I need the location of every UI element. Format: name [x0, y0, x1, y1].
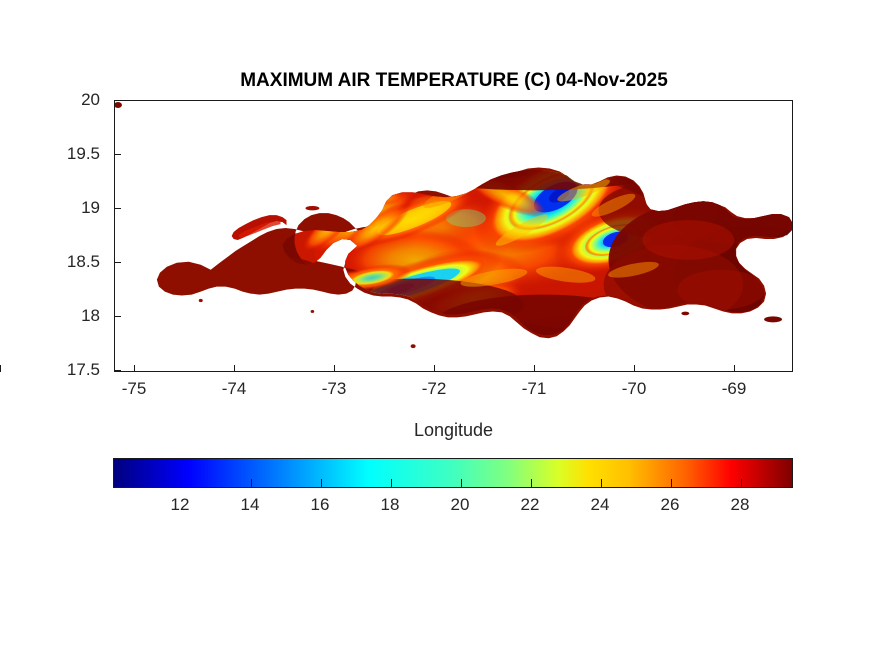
colorbar-label-28: 28 — [705, 496, 775, 513]
colorbar-tick-18 — [391, 479, 392, 487]
xtick-label--74: -74 — [199, 380, 269, 397]
xtick-label--70: -70 — [599, 380, 669, 397]
colorbar-tick-20 — [461, 479, 462, 487]
colorbar-tick-28 — [741, 479, 742, 487]
ytick-label-18.5: 18.5 — [40, 253, 100, 270]
ytick-mark-20 — [114, 100, 121, 101]
map-axes[interactable] — [114, 100, 793, 372]
xtick-label--73: -73 — [299, 380, 369, 397]
colorbar[interactable] — [113, 458, 793, 488]
colorbar-tick-12 — [181, 479, 182, 487]
xtick-label--75: -75 — [99, 380, 169, 397]
colorbar-label-18: 18 — [355, 496, 425, 513]
ytick-mark-18 — [114, 316, 121, 317]
xtick-mark--73 — [334, 365, 335, 372]
xtick-mark--70 — [634, 365, 635, 372]
islet-small-1 — [199, 299, 203, 302]
colorbar-tick-14 — [251, 479, 252, 487]
ytick-mark-19 — [114, 208, 121, 209]
colorbar-label-26: 26 — [635, 496, 705, 513]
islet-saona — [764, 316, 782, 322]
xtick-label--72: -72 — [399, 380, 469, 397]
page-title: MAXIMUM AIR TEMPERATURE (C) 04-Nov-2025 — [114, 70, 794, 92]
colorbar-tick-22 — [531, 479, 532, 487]
colorbar-tick-26 — [671, 479, 672, 487]
ytick-label-18: 18 — [40, 307, 100, 324]
x-axis-label: Longitude — [114, 420, 793, 441]
ytick-label-20: 20 — [40, 91, 100, 108]
xtick-mark--74 — [0, 365, 1, 372]
ytick-label-19: 19 — [40, 199, 100, 216]
xtick-mark--75 — [134, 365, 135, 372]
xtick-mark--69 — [734, 365, 735, 372]
ytick-mark-17.5 — [114, 370, 121, 371]
colorbar-label-14: 14 — [215, 496, 285, 513]
colorbar-label-20: 20 — [425, 496, 495, 513]
colorbar-tick-16 — [321, 479, 322, 487]
colorbar-label-24: 24 — [565, 496, 635, 513]
ytick-label-19.5: 19.5 — [40, 145, 100, 162]
colorbar-gradient — [114, 459, 792, 487]
xtick-mark--72 — [434, 365, 435, 372]
colorbar-tick-24 — [601, 479, 602, 487]
figure-canvas: MAXIMUM AIR TEMPERATURE (C) 04-Nov-2025 — [0, 0, 875, 656]
islet-small-2 — [311, 310, 315, 313]
colorbar-label-22: 22 — [495, 496, 565, 513]
ytick-mark-18.5 — [114, 262, 121, 263]
xtick-mark--74b — [234, 365, 235, 372]
xtick-mark--71 — [534, 365, 535, 372]
ytick-label-17.5: 17.5 — [40, 361, 100, 378]
islet-beata — [411, 344, 416, 348]
islet-tortue — [305, 206, 319, 210]
ytick-mark-19.5 — [114, 154, 121, 155]
islet-catalina — [681, 312, 689, 316]
temperature-heatmap — [115, 101, 792, 371]
colorbar-label-16: 16 — [285, 496, 355, 513]
colorbar-label-12: 12 — [145, 496, 215, 513]
xtick-label--69: -69 — [699, 380, 769, 397]
xtick-label--71: -71 — [499, 380, 569, 397]
